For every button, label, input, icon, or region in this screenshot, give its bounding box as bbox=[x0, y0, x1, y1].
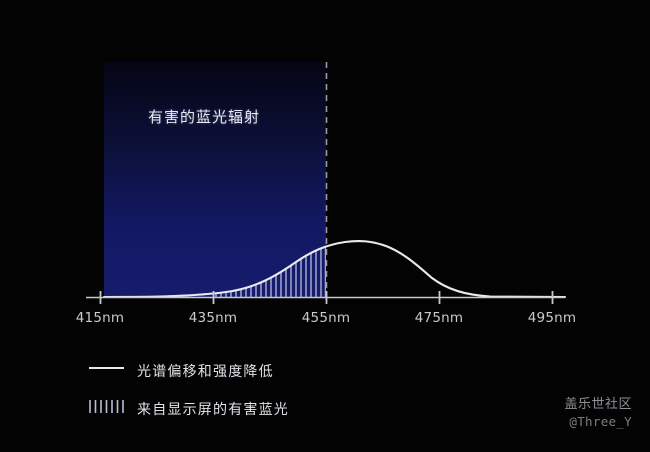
watermark: 盖乐世社区 @Three_Y bbox=[564, 396, 632, 430]
spectrum-chart-figure: 有害的蓝光辐射 415nm 435nm 455nm 475nm 495nm 光谱… bbox=[0, 0, 650, 452]
blue-zone-rect bbox=[104, 62, 326, 297]
watermark-community-name: 盖乐世社区 bbox=[564, 396, 632, 414]
watermark-user-handle: @Three_Y bbox=[564, 414, 632, 431]
legend-hatch-lines-swatch bbox=[90, 400, 123, 413]
spectrum-chart-svg bbox=[0, 0, 650, 452]
